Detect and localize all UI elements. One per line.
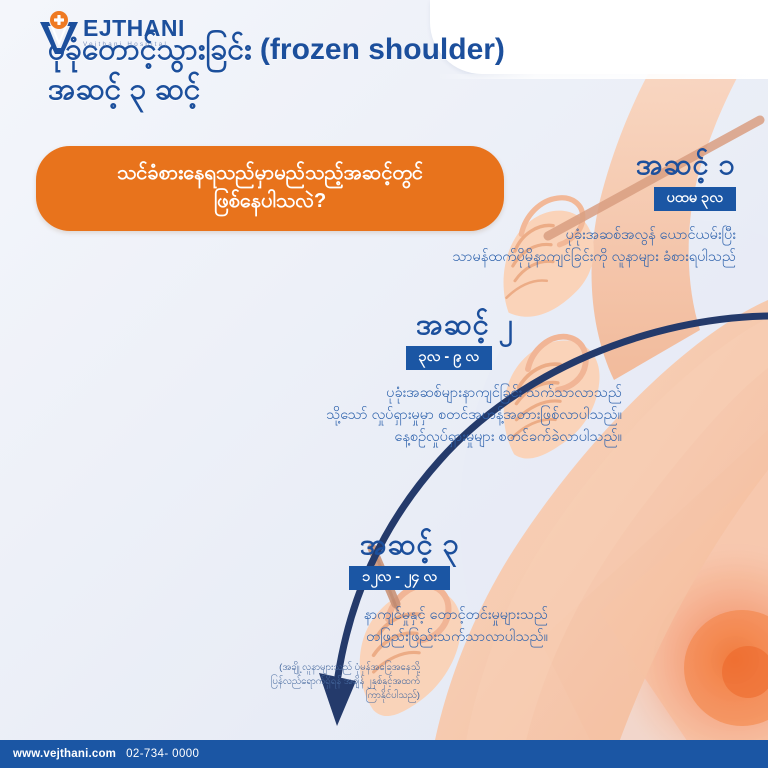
- stage-3-badge-row: ၁၂လ - ၂၄ လ: [0, 566, 570, 590]
- stage-3-description: နာကျင်မှုနှင့် တောင့်တင်းမှုများသည် တဖြည…: [0, 604, 570, 648]
- stage-3-note-line-3: ကြာနိုင်ပါသည်): [0, 689, 420, 703]
- stage-3-line-2: တဖြည်းဖြည်းသက်သာလာပါသည်။: [0, 626, 548, 648]
- stage-2-line-1: ပုခုံးအဆစ်များနာကျင်ခြင်း သက်သာလာသည်: [0, 382, 622, 404]
- stage-1-duration-badge: ပထမ ၃လ: [654, 187, 736, 211]
- stage-block-2: အဆင့် ၂ ၃လ - ၉ လ ပုခုံးအဆစ်များနာကျင်ခြင…: [0, 310, 622, 448]
- question-banner: သင်ခံစားနေရသည်မှာမည်သည့်အဆင့်တွင် ဖြစ်နေ…: [36, 146, 504, 231]
- question-line-1: သင်ခံစားနေရသည်မှာမည်သည့်အဆင့်တွင်: [62, 159, 478, 187]
- footer-phone[interactable]: 02-734- 0000: [126, 748, 199, 760]
- logo-wordmark: EJTHANI: [83, 17, 185, 40]
- footer-website[interactable]: www.vejthani.com: [13, 748, 116, 760]
- question-line-2: ဖြစ်နေပါသလဲ?: [62, 187, 478, 215]
- stage-3-note-line-2: ပြန်လည်ရောက်ရှိရန် အချိန် ၂နှစ်နှင့်အထက်: [0, 675, 420, 689]
- vejthani-v-cross-logo: [36, 10, 82, 56]
- stage-1-line-2: သာမန်ထက်ပိုမိုနာကျင်ခြင်းကို လူနာများ ခံ…: [453, 246, 736, 268]
- stage-2-duration-badge: ၃လ - ၉ လ: [406, 346, 492, 370]
- stage-3-note: (အချို့ လူနာများသည် ပုံမှန်အခြေအနေသို့ ပ…: [0, 661, 570, 703]
- stage-2-line-2: သို့သော် လှုပ်ရှားမှုမှာ စတင်အဟန့်အတားဖြ…: [0, 404, 622, 426]
- stage-3-duration-badge: ၁၂လ - ၂၄ လ: [349, 566, 450, 590]
- infographic-poster: EJTHANI Vejthani Hospital ပုခုံတောင့်သွာ…: [0, 0, 768, 768]
- stage-1-line-1: ပုခုံးအဆစ်အလွန် ယောင်ယမ်းပြီး: [453, 224, 736, 246]
- vejthani-logo: EJTHANI Vejthani Hospital: [36, 10, 185, 56]
- stage-1-heading: အဆင့် ၁: [453, 150, 736, 182]
- stage-1-badge-row: ပထမ ၃လ: [453, 187, 736, 211]
- footer-bar: www.vejthani.com 02-734- 0000: [0, 740, 768, 768]
- stage-2-badge-row: ၃လ - ၉ လ: [0, 346, 622, 370]
- stage-3-heading: အဆင့် ၃: [0, 530, 570, 562]
- stage-block-3: အဆင့် ၃ ၁၂လ - ၂၄ လ နာကျင်မှုနှင့် တောင့်…: [0, 530, 570, 703]
- stage-3-line-1: နာကျင်မှုနှင့် တောင့်တင်းမှုများသည်: [0, 604, 548, 626]
- stage-1-description: ပုခုံးအဆစ်အလွန် ယောင်ယမ်းပြီး သာမန်ထက်ပိ…: [453, 224, 736, 268]
- stage-2-line-3: နေ့စဉ်လှုပ်ရှားမှုများ စတင်ခက်ခဲလာပါသည်။: [0, 426, 622, 448]
- stage-3-note-line-1: (အချို့ လူနာများသည် ပုံမှန်အခြေအနေသို့: [0, 661, 420, 675]
- shoulder-pain-highlight: [615, 540, 768, 768]
- stage-2-description: ပုခုံးအဆစ်များနာကျင်ခြင်း သက်သာလာသည် သို…: [0, 382, 622, 448]
- page-title-line-2: အဆင့် ၃ ဆင့်: [48, 70, 505, 110]
- stage-2-heading: အဆင့် ၂: [0, 310, 622, 342]
- logo-subtitle: Vejthani Hospital: [83, 42, 185, 48]
- stage-block-1: အဆင့် ၁ ပထမ ၃လ ပုခုံးအဆစ်အလွန် ယောင်ယမ်း…: [453, 150, 736, 268]
